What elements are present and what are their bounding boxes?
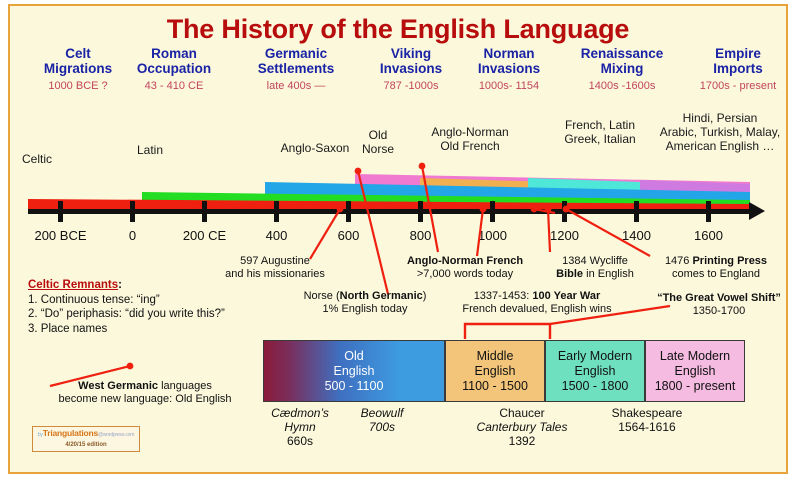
annotation-norse: Norse (North Germanic)1% English today xyxy=(280,290,450,316)
period-box-middle-english: MiddleEnglish1100 - 1500 xyxy=(445,340,545,402)
literary-work-0: Cædmon’sHymn660s xyxy=(258,406,342,448)
period-name-line1: Late Modern xyxy=(660,349,730,364)
logo-name-line: byTriangulations@wordpress.com xyxy=(33,429,139,440)
period-name-line1: Middle xyxy=(477,349,514,364)
era-title-line1: Celt xyxy=(24,46,132,61)
period-box-late-modern-english: Late ModernEnglish1800 - present xyxy=(645,340,745,402)
era-dates: 1700s - present xyxy=(682,78,788,94)
logo-title: Triangulations xyxy=(43,428,98,438)
period-name-line1: Early Modern xyxy=(558,349,632,364)
work-line1: Cædmon’s xyxy=(258,406,342,420)
axis-tick-4 xyxy=(346,201,351,222)
era-dates: 1400s -1600s xyxy=(561,78,683,94)
period-name-line2: English xyxy=(475,364,516,379)
work-line1: Beowulf xyxy=(342,406,422,420)
axis-tick-5 xyxy=(418,201,423,222)
axis-tick-8 xyxy=(634,201,639,222)
era-title-line2: Mixing xyxy=(561,61,683,76)
era-title-line1: Norman xyxy=(457,46,561,61)
era-dates: 787 -1000s xyxy=(362,78,460,94)
celtic-remnants-block: Celtic Remnants: 1. Continuous tense: “i… xyxy=(28,278,225,336)
annotation-west-germanic: West Germanic languagesbecome new langua… xyxy=(30,380,260,406)
infographic-poster: The History of the English Language Celt… xyxy=(8,4,788,474)
axis-tick-9 xyxy=(706,201,711,222)
work-line3: 660s xyxy=(258,434,342,448)
era-column-3: VikingInvasions787 -1000s xyxy=(362,46,460,94)
celtic-remnant-item-1: 2. “Do” periphasis: “did you write this?… xyxy=(28,307,225,322)
annotation-hundred-year-war: 1337-1453: 100 Year WarFrench devalued, … xyxy=(442,290,632,316)
axis-tick-6 xyxy=(490,201,495,222)
language-label-5: French, LatinGreek, Italian xyxy=(545,118,655,146)
celtic-remnants-heading-text: Celtic Remnants xyxy=(28,279,118,291)
timeline-arrow-icon xyxy=(749,202,765,220)
celtic-remnants-heading-colon: : xyxy=(118,279,122,291)
page-title: The History of the English Language xyxy=(10,14,786,45)
era-column-1: RomanOccupation43 - 410 CE xyxy=(118,46,230,94)
era-column-4: NormanInvasions1000s- 1154 xyxy=(457,46,561,94)
celtic-remnant-item-2: 3. Place names xyxy=(28,322,225,337)
axis-tick-0 xyxy=(58,201,63,222)
annotation-anglo-norman-french: Anglo-Norman French>7,000 words today xyxy=(390,255,540,281)
era-dates: 1000s- 1154 xyxy=(457,78,561,94)
annotation-great-vowel-shift: “The Great Vowel Shift”1350-1700 xyxy=(640,292,788,318)
era-dates: 43 - 410 CE xyxy=(118,78,230,94)
work-line2: 700s xyxy=(342,420,422,434)
era-title-line1: Roman xyxy=(118,46,230,61)
celtic-remnants-heading: Celtic Remnants: xyxy=(28,278,225,293)
annotation-wycliffe: 1384 WycliffeBible in English xyxy=(540,255,650,281)
era-column-2: GermanicSettlementslate 400s — xyxy=(238,46,354,94)
work-line3: 1392 xyxy=(460,434,584,448)
era-dates: late 400s — xyxy=(238,78,354,94)
work-line2: Canterbury Tales xyxy=(460,420,584,434)
source-logo[interactable]: byTriangulations@wordpress.com 4/20/15 e… xyxy=(32,426,140,452)
era-column-6: EmpireImports1700s - present xyxy=(682,46,788,94)
english-periods-row: OldEnglish500 - 1100MiddleEnglish1100 - … xyxy=(263,340,745,402)
annotation-printing-press: 1476 Printing Presscomes to England xyxy=(646,255,786,281)
period-range: 1100 - 1500 xyxy=(462,379,528,394)
era-title-line2: Migrations xyxy=(24,61,132,76)
celtic-remnants-list: 1. Continuous tense: “ing”2. “Do” periph… xyxy=(28,293,225,337)
language-label-4: Anglo-NormanOld French xyxy=(415,125,525,153)
period-box-early-modern-english: Early ModernEnglish1500 - 1800 xyxy=(545,340,645,402)
celtic-remnant-item-0: 1. Continuous tense: “ing” xyxy=(28,293,225,308)
era-column-0: CeltMigrations1000 BCE ? xyxy=(24,46,132,94)
era-title-line2: Invasions xyxy=(362,61,460,76)
period-box-old-english: OldEnglish500 - 1100 xyxy=(263,340,445,402)
period-name-line2: English xyxy=(575,364,616,379)
logo-edition: 4/20/15 edition xyxy=(33,441,139,449)
axis-tick-7 xyxy=(562,201,567,222)
work-line1: Chaucer xyxy=(460,406,584,420)
period-name-line2: English xyxy=(334,364,375,379)
era-title-line2: Imports xyxy=(682,61,788,76)
axis-tick-label-9: 1600 xyxy=(666,228,751,243)
era-title-line1: Germanic xyxy=(238,46,354,61)
work-line1: Shakespeare xyxy=(588,406,706,420)
period-name-line1: Old xyxy=(344,349,363,364)
literary-work-1: Beowulf700s xyxy=(342,406,422,434)
language-label-6: Hindi, PersianArabic, Turkish, Malay,Ame… xyxy=(640,111,788,153)
era-title-line1: Renaissance xyxy=(561,46,683,61)
era-title-line2: Invasions xyxy=(457,61,561,76)
work-line2: 1564-1616 xyxy=(588,420,706,434)
literary-work-2: ChaucerCanterbury Tales1392 xyxy=(460,406,584,448)
era-column-5: RenaissanceMixing1400s -1600s xyxy=(561,46,683,94)
axis-tick-2 xyxy=(202,201,207,222)
language-label-3: OldNorse xyxy=(348,128,408,156)
period-name-line2: English xyxy=(675,364,716,379)
period-range: 500 - 1100 xyxy=(325,379,384,394)
axis-tick-1 xyxy=(130,201,135,222)
period-range: 1800 - present xyxy=(655,379,736,394)
work-line2: Hymn xyxy=(258,420,342,434)
era-dates: 1000 BCE ? xyxy=(24,78,132,94)
era-title-line1: Viking xyxy=(362,46,460,61)
literary-work-3: Shakespeare1564-1616 xyxy=(588,406,706,434)
bands-svg xyxy=(10,154,788,214)
era-title-line2: Occupation xyxy=(118,61,230,76)
era-title-line1: Empire xyxy=(682,46,788,61)
timeline-axis xyxy=(28,209,753,214)
era-title-line2: Settlements xyxy=(238,61,354,76)
axis-tick-3 xyxy=(274,201,279,222)
period-range: 1500 - 1800 xyxy=(562,379,629,394)
logo-site: @wordpress.com xyxy=(98,432,134,438)
